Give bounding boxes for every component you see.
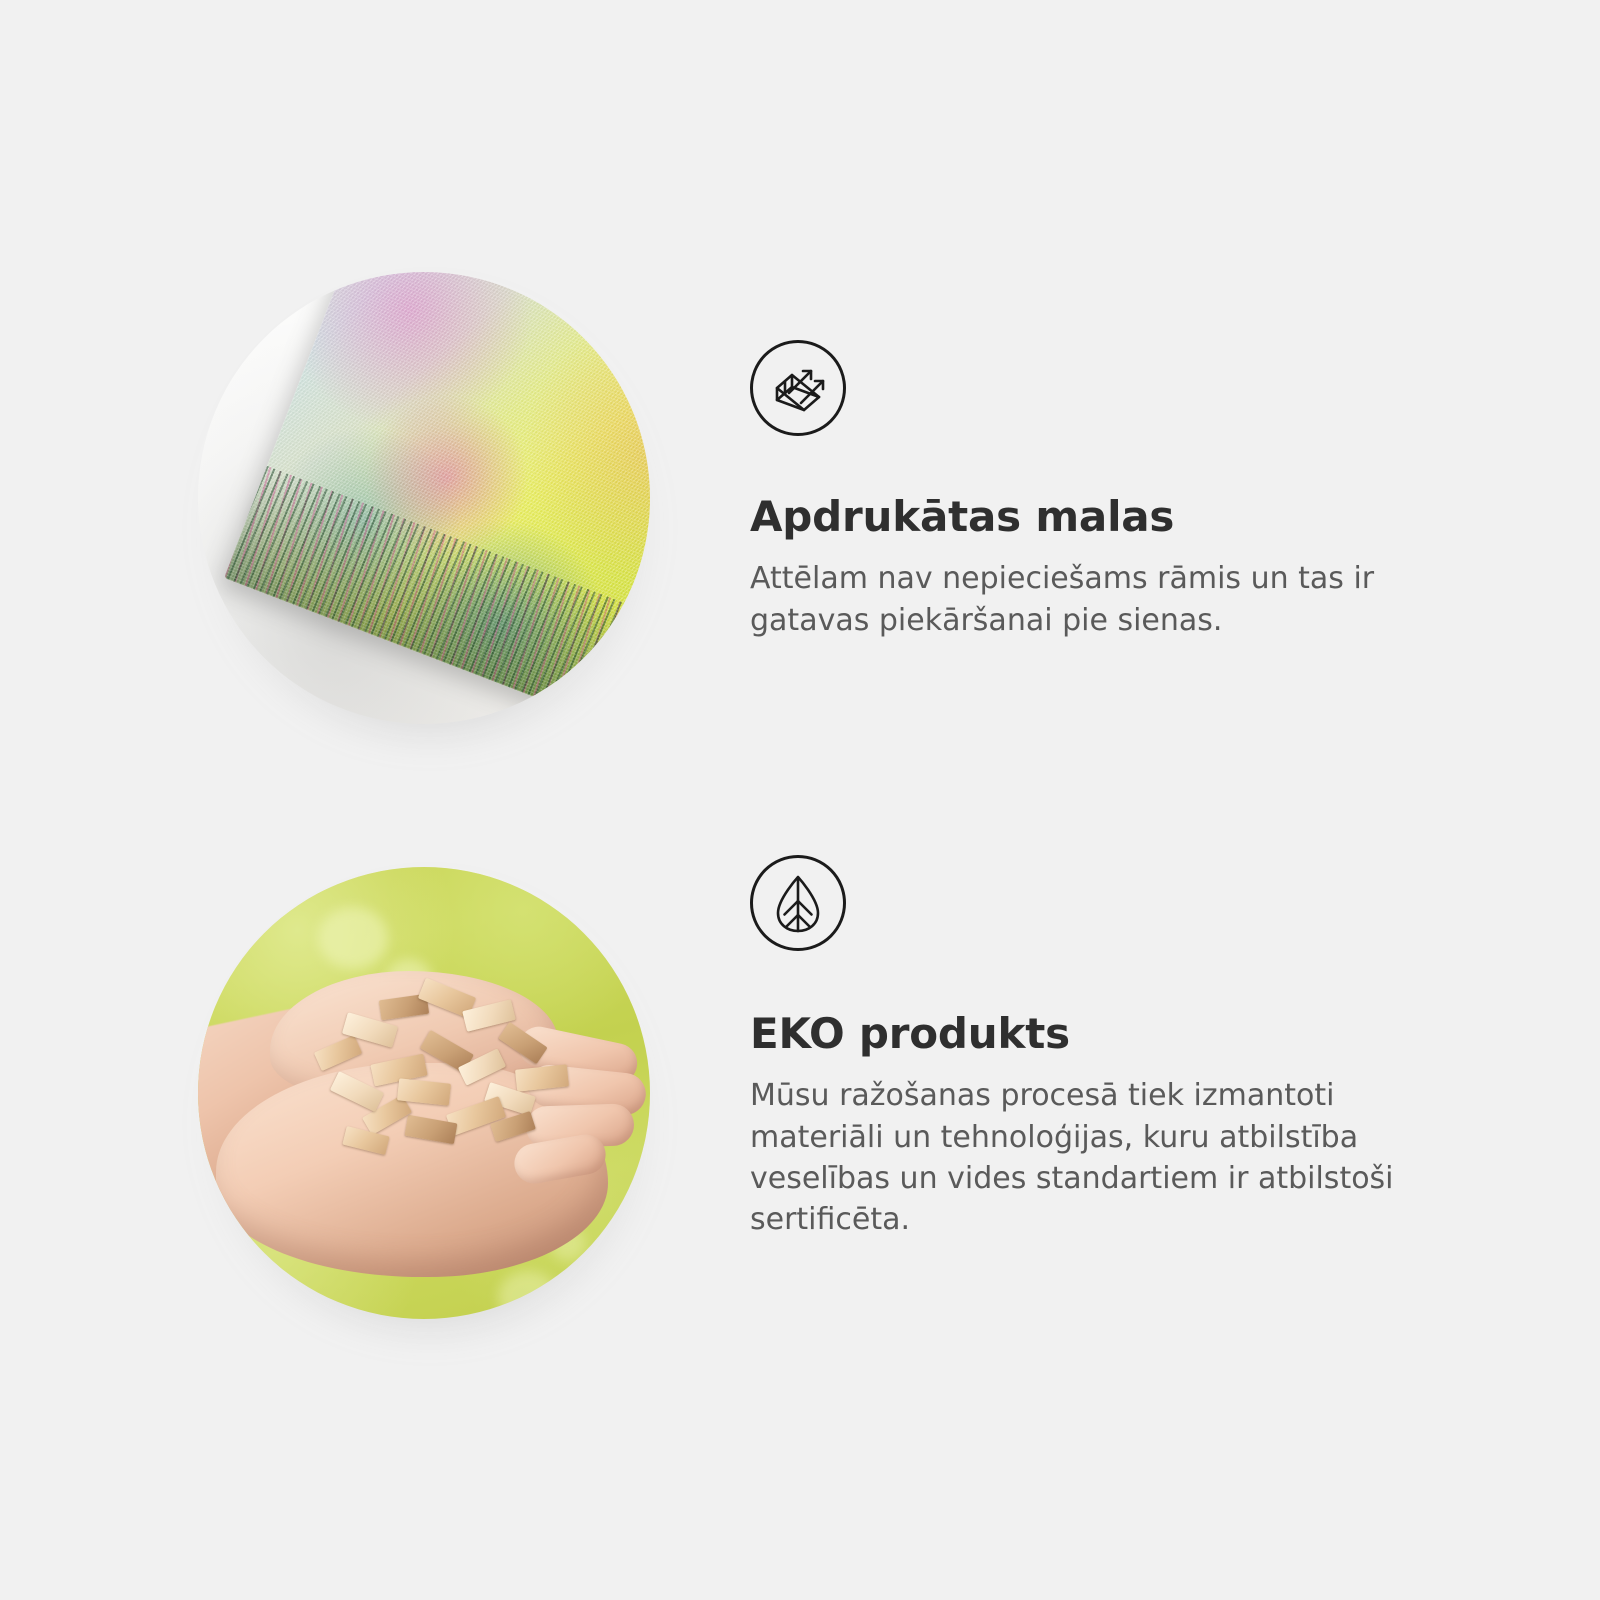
photo-eco-background xyxy=(198,867,650,1319)
wood-chip-pile xyxy=(310,985,572,1175)
feature-block-printed-edges: Apdrukātas malas Attēlam nav nepieciešam… xyxy=(0,250,1600,730)
feature-content-eco-product: EKO produkts Mūsu ražošanas procesā tiek… xyxy=(750,855,1510,1241)
canvas-grass-band xyxy=(224,466,650,724)
feature-content-printed-edges: Apdrukātas malas Attēlam nav nepieciešam… xyxy=(750,340,1510,641)
bokeh-dot xyxy=(318,907,388,969)
feature-description: Mūsu ražošanas procesā tiek izmantoti ma… xyxy=(750,1075,1460,1241)
feature-image-eco-product xyxy=(198,867,650,1319)
wood-chips-in-hands-photo xyxy=(198,867,650,1319)
feature-block-eco-product: EKO produkts Mūsu ražošanas procesā tiek… xyxy=(0,845,1600,1325)
photo-canvas-background xyxy=(198,272,650,724)
feature-image-printed-edges xyxy=(198,272,650,724)
bokeh-dot xyxy=(498,1271,558,1319)
leaf-icon xyxy=(750,855,846,951)
canvas-printed-face xyxy=(224,272,650,724)
feature-title: EKO produkts xyxy=(750,1011,1510,1057)
wrapped-canvas-edge-icon xyxy=(750,340,846,436)
feature-list-page: Apdrukātas malas Attēlam nav nepieciešam… xyxy=(0,0,1600,1600)
canvas-corner-photo xyxy=(198,272,650,724)
feature-description: Attēlam nav nepieciešams rāmis un tas ir… xyxy=(750,558,1460,641)
feature-title: Apdrukātas malas xyxy=(750,494,1510,540)
